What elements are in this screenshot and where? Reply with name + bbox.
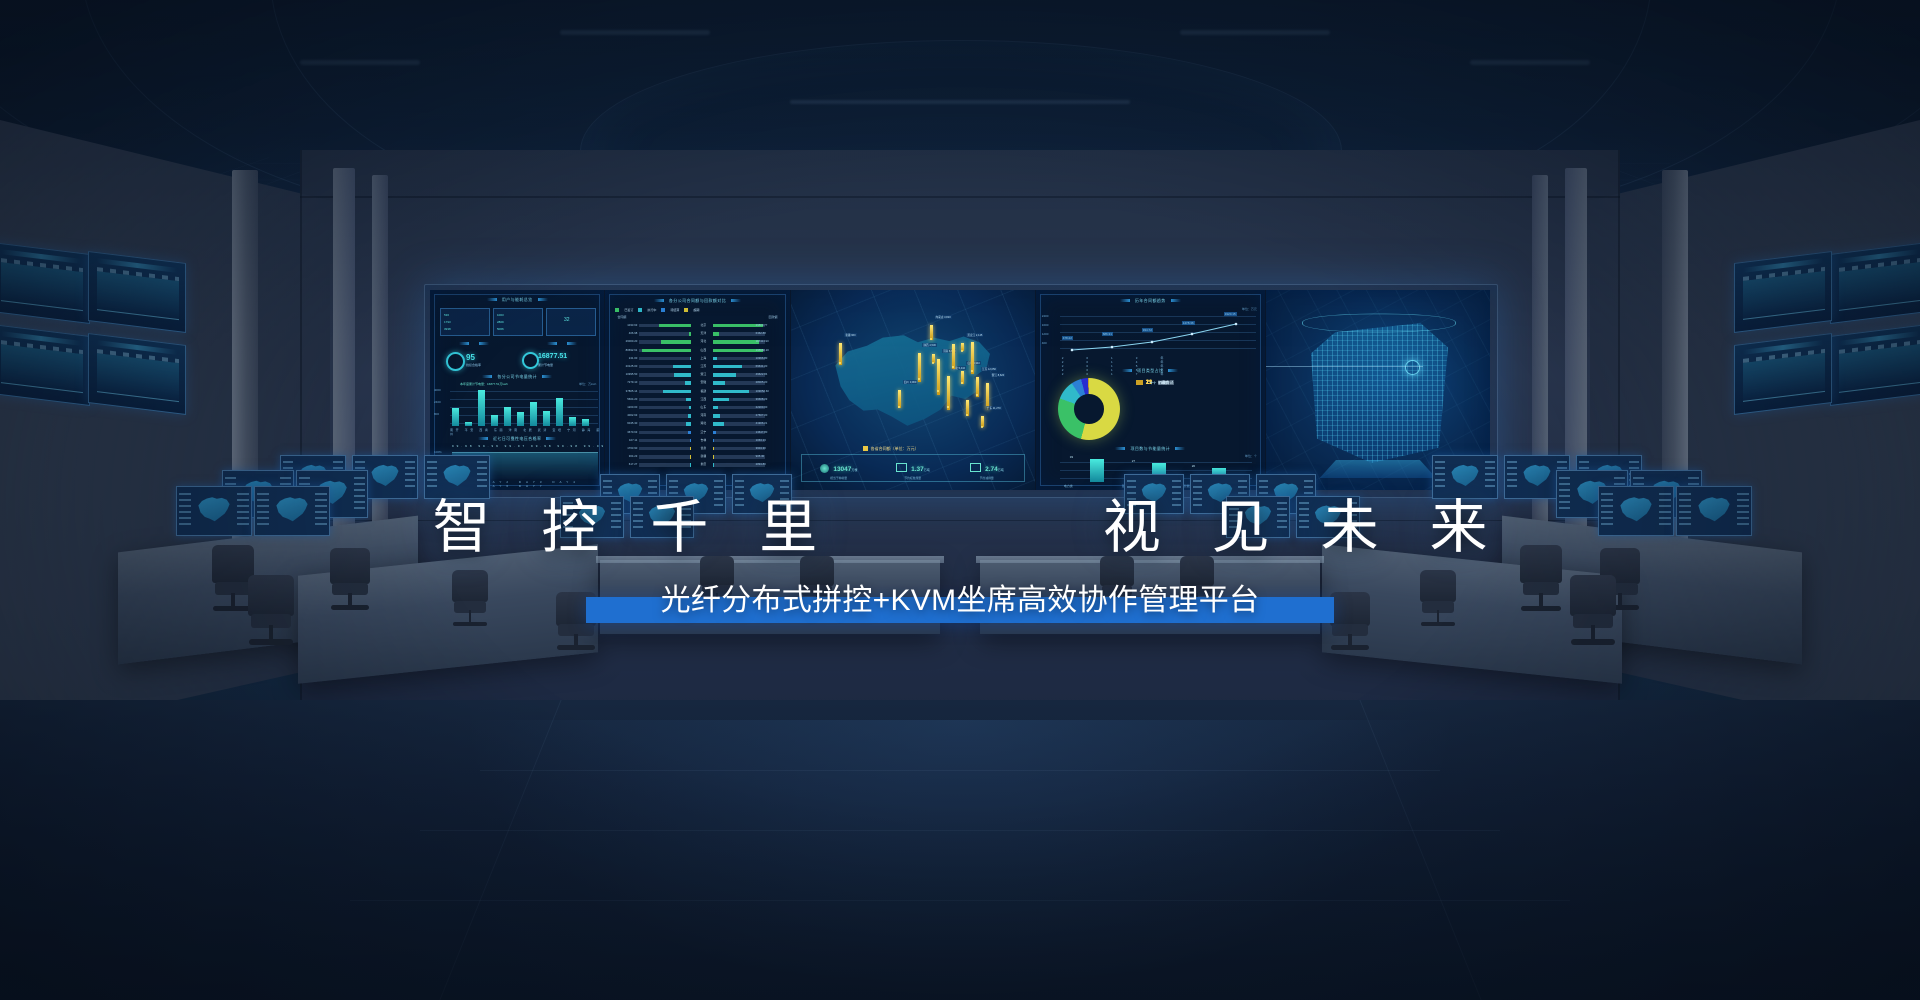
map-tooltip: 广东 11,270 (986, 406, 1002, 410)
tornado-row: 10995.50浙江49622.84 (611, 372, 783, 379)
tornado-left-track (639, 373, 691, 376)
tornado-row-name: 浙江 (695, 372, 711, 376)
tornado-left-track (639, 431, 691, 434)
tornado-row-name: 天津 (695, 331, 711, 335)
side-monitor (0, 324, 90, 406)
tornado-left-value: 26000.20 (611, 339, 637, 343)
kpi-value: 3938 (444, 327, 451, 331)
tornado-row-name: 吉林 (695, 438, 711, 442)
tornado-row-name: 山西 (695, 348, 711, 352)
tornado-left-track (639, 390, 691, 393)
line-chart-values: 99.98 99.99 99.97 99.98 99.98 99.99 99.9… (452, 444, 605, 448)
map-point (981, 426, 983, 428)
tornado-row: 26000.20河北118424.90 (611, 339, 783, 346)
videowall-screen-4[interactable]: 历年合同额趋势 单位：万元 2400 1600 1200 400 478.22 … (1036, 290, 1266, 490)
donut-legend-item: 1 个工业园区 (1136, 380, 1174, 386)
floor-glow (460, 720, 1460, 1000)
kpi-value: 1793 (444, 320, 451, 324)
tornado-row: 304.23新疆905.30 (611, 454, 783, 461)
chair-base (557, 645, 595, 650)
videowall-screen-2[interactable]: 各分公司合同额与回款额对比 已签订 执行中 待结算 超期 合同额 回款额 103… (605, 290, 790, 490)
side-monitor (88, 251, 186, 333)
trend-line (1060, 314, 1256, 354)
chair-base (1331, 645, 1369, 650)
energy-icon (522, 352, 539, 369)
map-legend: 各省合同额（单位：万元） (863, 446, 919, 452)
tornado-row-name: 山东 (695, 405, 711, 409)
kpi-value: 32 (564, 317, 570, 323)
tornado-chart: 1033.63北京29803.77406.98天津6362.8826000.20… (611, 323, 783, 485)
monitor-china-map (370, 463, 401, 491)
tornado-left-value: 10995.50 (611, 372, 637, 376)
tornado-left-value: 80692.61 (611, 348, 637, 352)
ceiling-light (1180, 30, 1330, 35)
kpi-value: 2809 (497, 320, 504, 324)
map-tooltip: 浙江 8,620 (991, 373, 1005, 377)
tornado-left-value: 617.27 (611, 462, 637, 466)
donut-legend-label: 工业园区 (1158, 380, 1174, 385)
map-stat-caption: 节约减排量 (950, 476, 1024, 480)
tornado-right-value: 27607.20 (756, 413, 784, 417)
kpi-linloss-label: 线损合格率 (466, 363, 481, 367)
videowall-screen-3[interactable]: 黑龙江 2,145内蒙古 3,820新疆 960陕西 4,530河南 6,780… (791, 290, 1036, 490)
tornado-left-value: 1763.90 (611, 446, 637, 450)
screen-1-subtitle-a (430, 341, 518, 346)
kpi-saving-label: 累计节电量 (538, 363, 553, 367)
map-stat-unit: 万吨 (998, 468, 1004, 472)
kpi-value: 536 (444, 313, 449, 317)
map-point (952, 366, 954, 368)
line-chart-title: 近七日可靠性电压合格率 (430, 436, 604, 442)
model-hotspot[interactable] (1405, 360, 1420, 375)
tornado-left-value: 241.00 (611, 356, 637, 360)
tornado-row: 7279.10安徽28005.20 (611, 380, 783, 387)
control-room-hero: 用户与能耗总览 536 1793 3938 1003 2809 5066 32 … (0, 0, 1920, 1000)
map-stat-caption: 相当于种树量 (802, 476, 876, 480)
tornado-right-value: 1063.13 (756, 438, 784, 442)
chair-base (249, 639, 293, 645)
map-stat-value: 1.37 (911, 466, 924, 473)
workstation-monitor[interactable] (424, 455, 490, 499)
bottom-bar-xlabel: 电力类 (1064, 484, 1073, 488)
wall-seam (300, 196, 1620, 198)
bar-axis-tick: 800 (434, 412, 439, 416)
bar-chart-plot (450, 388, 598, 426)
tornado-right-value: 22200.00 (756, 405, 784, 409)
tornado-left-track (639, 349, 691, 352)
videowall[interactable]: 用户与能耗总览 536 1793 3938 1003 2809 5066 32 … (430, 290, 1490, 490)
side-monitor (0, 242, 90, 324)
tornado-right-value: 905.30 (756, 454, 784, 458)
monitor-china-map (442, 463, 473, 491)
tornado-right-value: 41906.21 (756, 421, 784, 425)
tornado-left-track (639, 414, 691, 417)
tornado-row: 1763.90甘肃3604.30 (611, 446, 783, 453)
screen-4-title: 历年合同额趋势 (1036, 298, 1265, 304)
model-leader-line (1266, 366, 1423, 367)
tornado-left-track (639, 439, 691, 442)
tornado-right-value: 29803.77 (756, 323, 784, 327)
side-monitor (1734, 251, 1832, 333)
tornado-row: 617.27重庆2894.80 (611, 462, 783, 469)
trend-point-label: 478.22 (1062, 336, 1073, 340)
col-header-right: 回款额 (769, 315, 778, 319)
screen-1-title: 用户与能耗总览 (430, 297, 604, 303)
map-tooltip: 陕西 4,530 (922, 343, 936, 347)
donut-title: 项目类型占比 (1036, 368, 1265, 374)
map-stat-value: 2.74 (985, 466, 998, 473)
coal-icon (896, 463, 907, 472)
tornado-left-value: 406.98 (611, 331, 637, 335)
kpi-value: 5066 (497, 327, 504, 331)
co2-icon (970, 463, 981, 472)
monitor-china-map (1522, 463, 1553, 491)
tornado-left-value: 1200.00 (611, 405, 637, 409)
tornado-row: 1200.00山东22200.00 (611, 405, 783, 412)
map-stat: 2.74万吨 节约减排量 (950, 455, 1024, 481)
tornado-left-track (639, 406, 691, 409)
map-tooltip: 江苏 12,050 (981, 367, 997, 371)
map-point (930, 338, 932, 340)
map-stat-value: 13047 (833, 466, 851, 473)
tornado-row-name: 湖北 (695, 421, 711, 425)
bar-axis-tick: 2400 (434, 400, 441, 404)
tornado-row-name: 安徽 (695, 380, 711, 384)
tornado-row-name: 重庆 (695, 462, 711, 466)
tornado-left-track (639, 422, 691, 425)
ceiling-light (790, 100, 1130, 104)
tornado-row-name: 辽宁 (695, 430, 711, 434)
tornado-left-value: 7279.10 (611, 380, 637, 384)
screen-1-subtitle-b (518, 341, 605, 346)
ceiling-light (560, 30, 710, 35)
map-tooltip: 四川 3,960 (903, 380, 917, 384)
map-stat-unit: 万吨 (924, 468, 930, 472)
tornado-row: 37805.14福建109052.60 (611, 389, 783, 396)
trend-point-label: 1920.15 (1224, 312, 1237, 316)
tornado-row-name: 北京 (695, 323, 711, 327)
ceiling-light (300, 60, 420, 65)
tornado-left-track (639, 381, 691, 384)
trend-point-label: 1478.36 (1182, 321, 1195, 325)
tornado-right-value: 195680.20 (756, 348, 784, 352)
tornado-left-track (639, 340, 691, 343)
tornado-row-name: 江苏 (695, 364, 711, 368)
tornado-right-value: 49622.84 (756, 372, 784, 376)
tornado-left-value: 37805.14 (611, 389, 637, 393)
bar-chart-unit: 单位：万kwh (579, 382, 596, 386)
building-roof-ring (1302, 314, 1456, 333)
tornado-right-value: 28005.20 (756, 380, 784, 384)
map-stats: 13047万棵 相当于种树量 1.37万吨 节约标准煤量 2.74万吨 (801, 454, 1025, 482)
chair-base (1421, 622, 1456, 626)
monitor-sidebar (405, 461, 415, 490)
tornado-left-value: 20125.00 (611, 364, 637, 368)
bottom-bar-title: 项目数与节能量统计 (1036, 446, 1265, 452)
map-point (947, 406, 949, 408)
tornado-row-name: 河北 (695, 339, 711, 343)
tornado-left-value: 5664.20 (611, 397, 637, 401)
map-tooltip: 内蒙古 3,820 (935, 315, 952, 319)
tornado-right-value: 109052.60 (756, 389, 784, 393)
tornado-left-track (639, 357, 691, 360)
tornado-right-value: 36608.23 (756, 397, 784, 401)
map-point (932, 362, 934, 364)
monitor-sidebar (427, 461, 437, 490)
floor (0, 700, 1920, 1000)
tornado-left-value: 107.11 (611, 438, 637, 442)
tornado-row: 1033.63北京29803.77 (611, 323, 783, 330)
hero-overlay: 智 控 千 里 视 见 未 来 光纤分布式拼控+KVM坐席高效协作管理平台 (0, 498, 1920, 619)
trend-point-label: 686.31 (1102, 332, 1113, 336)
tornado-left-value: 6045.30 (611, 421, 637, 425)
screen-2-legend: 已签订 执行中 待结算 超期 (615, 307, 779, 312)
map-legend-text: 各省合同额（单位：万元） (871, 446, 919, 451)
subtitle-wrap: 光纤分布式拼控+KVM坐席高效协作管理平台 (0, 575, 1920, 619)
trend-point-label: 934.72 (1142, 328, 1153, 332)
bar-axis-tick: 4000 (434, 388, 441, 392)
map-stat: 13047万棵 相当于种树量 (802, 455, 876, 481)
kpi-linloss: 95 (466, 353, 475, 362)
map-stat-unit: 万棵 (851, 468, 857, 472)
side-monitor (1734, 333, 1832, 415)
workstation-monitor[interactable] (1432, 455, 1498, 499)
tree-icon (820, 464, 829, 473)
tornado-row-name: 上海 (695, 356, 711, 360)
map-stat-caption: 节约标准煤量 (876, 476, 950, 480)
tornado-row: 6045.30湖北41906.21 (611, 421, 783, 428)
side-monitor (88, 333, 186, 415)
tornado-row: 20125.00江苏69641.20 (611, 364, 783, 371)
chair-base (1571, 639, 1615, 645)
tornado-right-value: 10966.80 (756, 356, 784, 360)
tornado-right-value: 2894.80 (756, 462, 784, 466)
tornado-right-value: 6362.88 (756, 331, 784, 335)
tornado-right-value: 13647.80 (756, 430, 784, 434)
screen-2-title: 各分公司合同额与回款额对比 (605, 298, 789, 304)
kpi-value: 1003 (497, 313, 504, 317)
map-point (918, 378, 920, 380)
tornado-left-track (639, 365, 691, 368)
tornado-row-name: 河南 (695, 413, 711, 417)
monitor-sidebar (1507, 461, 1517, 490)
tornado-row-name: 甘肃 (695, 446, 711, 450)
side-monitor (1830, 242, 1920, 324)
side-monitor (1830, 324, 1920, 406)
monitor-sidebar (477, 461, 487, 490)
tornado-row: 406.98天津6362.88 (611, 331, 783, 338)
tornado-row: 241.00上海10966.80 (611, 356, 783, 363)
tornado-left-value: 304.23 (611, 454, 637, 458)
ceiling-light (1470, 60, 1590, 65)
tornado-row: 5664.20江西36608.23 (611, 397, 783, 404)
chair-base (453, 622, 488, 626)
tornado-row-name: 江西 (695, 397, 711, 401)
monitor-sidebar (1435, 461, 1445, 490)
tornado-left-track (639, 324, 691, 327)
tornado-left-track (639, 447, 691, 450)
bottom-bar-value: 27 (1132, 459, 1135, 463)
tornado-left-track (639, 398, 691, 401)
tornado-row: 80692.61山西195680.20 (611, 348, 783, 355)
bottom-bar-value: 20 (1192, 464, 1195, 468)
monitor-sidebar (1485, 461, 1495, 490)
map-tooltip: 黑龙江 2,145 (966, 333, 983, 337)
page-subtitle: 光纤分布式拼控+KVM坐席高效协作管理平台 (661, 575, 1260, 619)
bar-chart-subtitle: 本年度累计节电量：16877.51万kwh (460, 382, 508, 386)
tornado-row: 3670.63辽宁13647.80 (611, 430, 783, 437)
bar-chart-title: 各分公司节电量统计 (430, 374, 604, 380)
bottom-bar-value: 33 (1070, 455, 1073, 459)
tornado-left-value: 1033.63 (611, 323, 637, 327)
tornado-left-track (639, 463, 691, 466)
tornado-right-value: 69641.20 (756, 364, 784, 368)
donut-chart (1058, 378, 1120, 440)
tornado-row-name: 福建 (695, 389, 711, 393)
tornado-left-value: 4002.63 (611, 413, 637, 417)
tornado-right-value: 3604.30 (756, 446, 784, 450)
tornado-row: 4002.63河南27607.20 (611, 413, 783, 420)
map-point (898, 406, 900, 408)
tornado-left-track (639, 455, 691, 458)
kpi-card (546, 308, 596, 336)
kpi-saving: 16877.51 (538, 353, 567, 360)
page-title: 智 控 千 里 视 见 未 来 (0, 498, 1920, 559)
bar-chart-xlabels: 南开 平安 西青 东丽 津南 北辰 武清 宝坻 宁河 静海 蓟州 (450, 428, 604, 436)
map-tooltip: 新疆 960 (844, 333, 856, 337)
tornado-row: 107.11吉林1063.13 (611, 438, 783, 445)
gauge-icon (446, 352, 465, 371)
tornado-left-value: 3670.63 (611, 430, 637, 434)
building-base (1320, 460, 1437, 478)
map-stat: 1.37万吨 节约标准煤量 (876, 455, 950, 481)
monitor-china-map (1450, 463, 1481, 491)
col-header-left: 合同额 (617, 315, 626, 319)
tornado-row-name: 新疆 (695, 454, 711, 458)
trend-unit: 单位：万元 (1242, 307, 1257, 311)
tornado-left-track (639, 332, 691, 335)
tornado-right-value: 118424.90 (756, 339, 784, 343)
